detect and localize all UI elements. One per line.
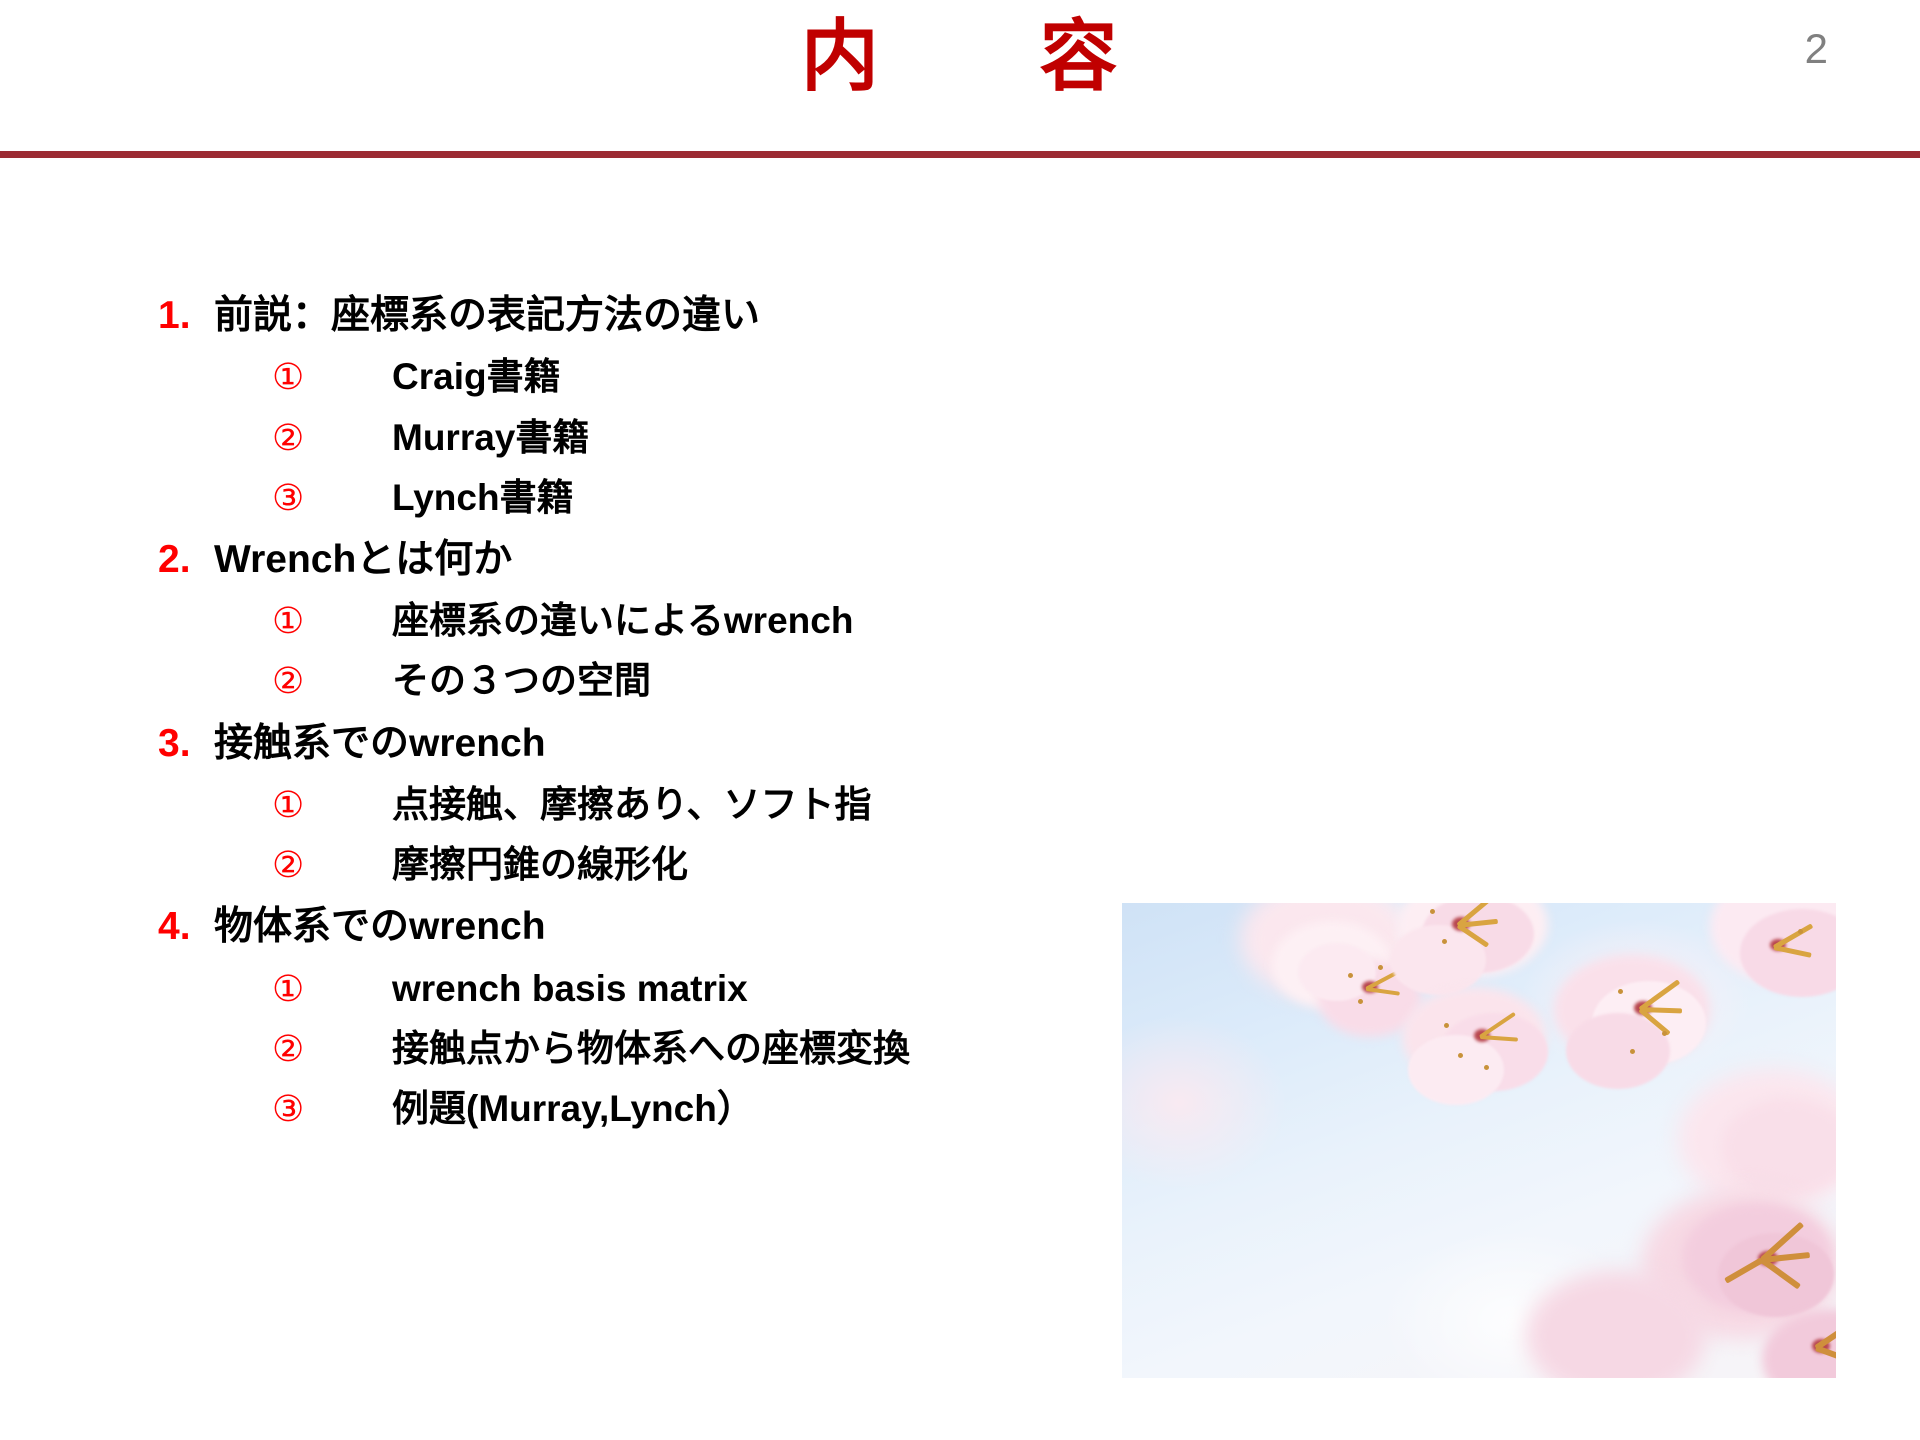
cherry-blossom-photo <box>1122 903 1836 1378</box>
outline-item-1-sub-3[interactable]: ③ Lynch書籍 <box>0 470 1160 526</box>
outline-item-4-sub-2-label: 接触点から物体系への座標変換 <box>392 1021 910 1077</box>
outline-item-1-number: 1. <box>158 286 214 345</box>
circled-number-icon: ② <box>272 654 392 709</box>
circled-number-icon: ① <box>272 350 392 405</box>
outline-item-3-sub-1-label: 点接触、摩擦あり、ソフト指 <box>392 777 872 833</box>
outline-item-3-sub-1[interactable]: ① 点接触、摩擦あり、ソフト指 <box>0 777 1160 833</box>
title-divider-rule <box>0 151 1920 158</box>
outline-item-4-sub-1-label: wrench basis matrix <box>392 961 748 1017</box>
page-number: 2 <box>1805 28 1828 70</box>
outline-item-3-sub-2-label: 摩擦円錐の線形化 <box>392 837 688 893</box>
outline-item-3-number: 3. <box>158 714 214 773</box>
outline-item-3-label: 接触系でのwrench <box>214 714 546 773</box>
circled-number-icon: ① <box>272 962 392 1017</box>
circled-number-icon: ② <box>272 838 392 893</box>
outline-item-4-sub-2[interactable]: ② 接触点から物体系への座標変換 <box>0 1021 1160 1077</box>
outline-item-1-sub-3-label: Lynch書籍 <box>392 470 574 526</box>
outline-item-3-sub-2[interactable]: ② 摩擦円錐の線形化 <box>0 837 1160 893</box>
outline-item-2-sub-1-label: 座標系の違いによるwrench <box>392 593 853 649</box>
circled-number-icon: ③ <box>272 471 392 526</box>
outline-item-1-sub-1[interactable]: ① Craig書籍 <box>0 349 1160 405</box>
outline-item-4[interactable]: 4. 物体系でのwrench <box>0 897 1160 956</box>
outline-item-1[interactable]: 1. 前説：座標系の表記方法の違い <box>0 286 1160 345</box>
outline-item-2-sub-2[interactable]: ② その３つの空間 <box>0 653 1160 709</box>
outline-list: 1. 前説：座標系の表記方法の違い ① Craig書籍 ② Murray書籍 ③… <box>0 286 1160 1141</box>
outline-item-4-sub-3[interactable]: ③ 例題(Murray,Lynch） <box>0 1081 1160 1137</box>
outline-item-2-label: Wrenchとは何か <box>214 530 512 589</box>
circled-number-icon: ② <box>272 1022 392 1077</box>
outline-item-1-sub-2[interactable]: ② Murray書籍 <box>0 410 1160 466</box>
outline-item-4-number: 4. <box>158 897 214 956</box>
outline-item-1-sub-1-label: Craig書籍 <box>392 349 561 405</box>
outline-item-4-label: 物体系でのwrench <box>214 897 546 956</box>
circled-number-icon: ③ <box>272 1082 392 1137</box>
slide: 内 容 2 1. 前説：座標系の表記方法の違い ① Craig書籍 ② Murr… <box>0 0 1920 1440</box>
outline-item-4-sub-1[interactable]: ① wrench basis matrix <box>0 961 1160 1017</box>
circled-number-icon: ② <box>272 411 392 466</box>
outline-item-3[interactable]: 3. 接触系でのwrench <box>0 714 1160 773</box>
outline-item-2-number: 2. <box>158 530 214 589</box>
page-title: 内 容 <box>0 14 1920 98</box>
outline-item-1-sub-2-label: Murray書籍 <box>392 410 589 466</box>
circled-number-icon: ① <box>272 594 392 649</box>
outline-item-4-sub-3-label: 例題(Murray,Lynch） <box>392 1081 754 1137</box>
outline-item-1-label: 前説：座標系の表記方法の違い <box>214 286 760 345</box>
outline-item-2-sub-2-label: その３つの空間 <box>392 653 651 709</box>
outline-item-2[interactable]: 2. Wrenchとは何か <box>0 530 1160 589</box>
circled-number-icon: ① <box>272 778 392 833</box>
outline-item-2-sub-1[interactable]: ① 座標系の違いによるwrench <box>0 593 1160 649</box>
